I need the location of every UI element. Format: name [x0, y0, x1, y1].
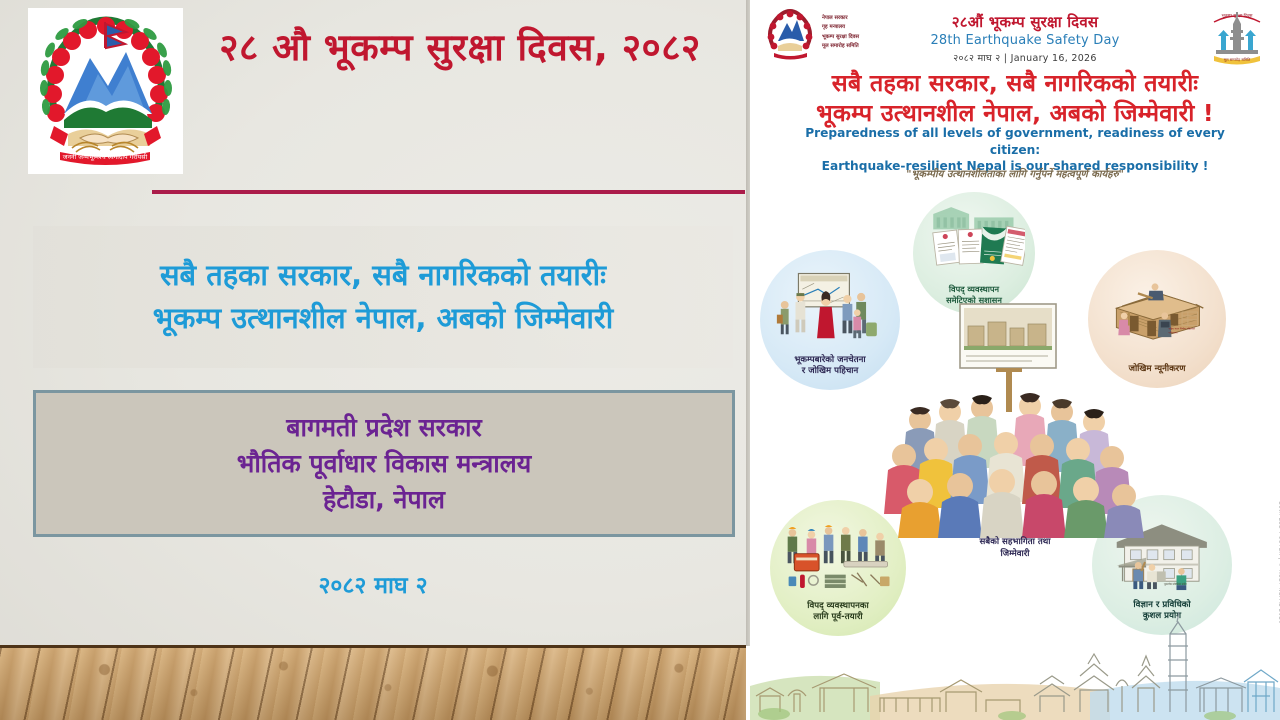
slide-date: २०८२ माघ २: [0, 568, 746, 600]
poster-slogan-np-line-1: सबै तहका सरकार, सबै नागरिकको तयारीः: [764, 68, 1266, 98]
slide-screen: जननी जन्मभूमिश्च स्वर्गादपि गरीयसी २८ औ …: [0, 0, 1280, 720]
earthquake-safety-day-poster: नेपाल सरकार गृह मन्त्रालय भूकम्प सुरक्षा…: [750, 0, 1280, 720]
slogan-line-2: भूकम्प उत्थानशील नेपाल, अबको जिम्मेवारी: [153, 297, 614, 341]
nepal-heritage-skyline-illustration: [750, 600, 1280, 720]
logo-caption-line-2: गृह मन्त्रालय: [822, 23, 884, 32]
slogan-line-1: सबै तहका सरकार, सबै नागरिकको तयारीः: [160, 254, 606, 298]
logo-caption-line-4: मूल समारोह समिति: [822, 42, 884, 51]
org-line-1: बागमती प्रदेश सरकार: [286, 410, 481, 446]
poster-heading-nepali: २८औं भूकम्प सुरक्षा दिवस: [900, 12, 1150, 32]
poster-slogan-nepali: सबै तहका सरकार, सबै नागरिकको तयारीः भूकम…: [764, 68, 1266, 128]
wooden-floor-decoration: [0, 645, 746, 720]
nepal-home-ministry-logo-icon: [762, 8, 818, 60]
poster-logo-left-caption: नेपाल सरकार गृह मन्त्रालय भूकम्प सुरक्षा…: [822, 14, 884, 51]
svg-text:भूकम्पीय प्रविधिका प्रयोग: भूकम्पीय प्रविधिका प्रयोग: [1164, 582, 1188, 586]
poster-heading: २८औं भूकम्प सुरक्षा दिवस 28th Earthquake…: [900, 12, 1150, 64]
title-divider: [152, 190, 745, 194]
poster-heading-date: २०८२ माघ २ | January 16, 2026: [900, 51, 1150, 64]
org-line-3: हेटौडा, नेपाल: [323, 482, 445, 518]
svg-text:परिपालना: परिपालना: [1169, 330, 1178, 334]
circle-disaster-governance: विपद् व्यवस्थापन समेटिएको सुशासन: [913, 192, 1035, 314]
poster-slogan-np-line-2: भूकम्प उत्थानशील नेपाल, अबको जिम्मेवारी …: [764, 98, 1266, 128]
slogan-band: सबै तहका सरकार, सबै नागरिकको तयारीः भूकम…: [33, 226, 733, 368]
svg-text:राष्ट्रिय भवन निर्माण संहिताको: राष्ट्रिय भवन निर्माण संहिताको: [1169, 326, 1196, 330]
label-line-1: विपद् व्यवस्थापन: [913, 284, 1035, 295]
governance-documents-illustration: [923, 204, 1025, 282]
poster-heading-english: 28th Earthquake Safety Day: [900, 33, 1150, 48]
label-line-2: जिम्मेवारी: [900, 549, 1130, 561]
emblem-motto: जननी जन्मभूमिश्च स्वर्गादपि गरीयसी: [63, 153, 148, 161]
logo-caption-line-1: नेपाल सरकार: [822, 14, 884, 23]
organization-box: बागमती प्रदेश सरकार भौतिक पूर्वाधार विका…: [33, 390, 735, 537]
center-label-participation: सबैको सहभागिता तथा जिम्मेवारी: [900, 537, 1130, 560]
nepal-government-emblem: जननी जन्मभूमिश्च स्वर्गादपि गरीयसी: [28, 8, 183, 174]
presentation-slide: जननी जन्मभूमिश्च स्वर्गादपि गरीयसी २८ औ …: [0, 0, 746, 720]
label-line-1: सबैको सहभागिता तथा: [900, 537, 1130, 549]
logo-caption-line-3: भूकम्प सुरक्षा दिवस: [822, 33, 884, 42]
page-title: २८ औ भूकम्प सुरक्षा दिवस, २०८२: [190, 22, 730, 75]
poster-slogan-en-line-1: Preparedness of all levels of government…: [780, 125, 1250, 158]
awareness-illustration: [771, 264, 889, 354]
community-gathering-illustration: [878, 300, 1146, 540]
dharahara-committee-logo-icon: भूकम्प सुरक्षा दिवस मूल समारोह समिति: [1204, 6, 1270, 68]
org-line-2: भौतिक पूर्वाधार विकास मन्त्रालय: [237, 446, 532, 482]
poster-quote: "भूकम्पीय उत्थानशीलताका लागि गर्नुपर्ने …: [790, 166, 1240, 180]
